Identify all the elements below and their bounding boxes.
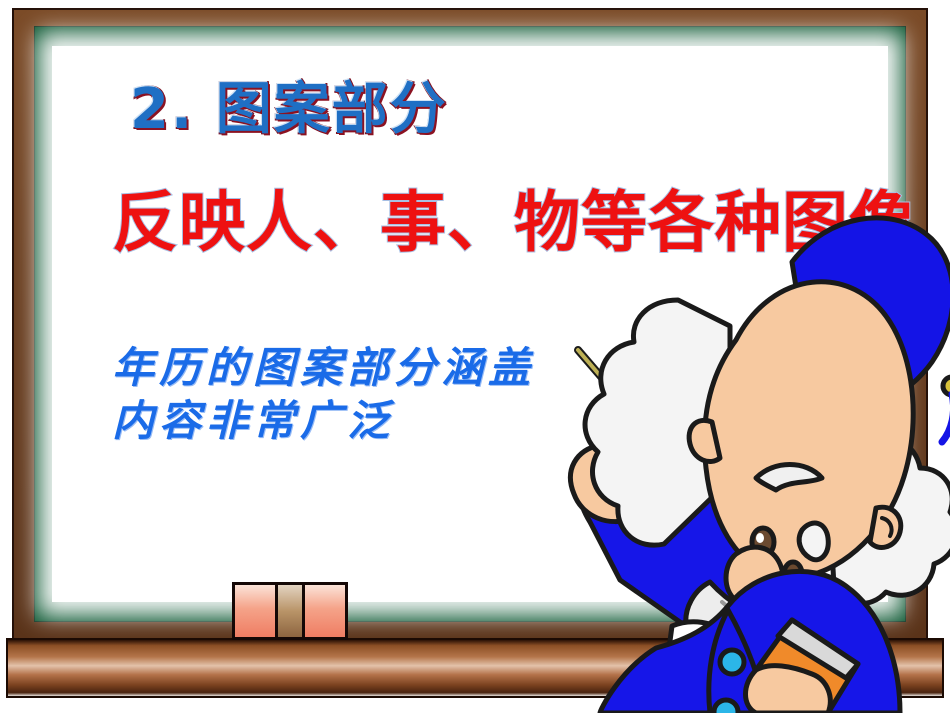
- body-text: 年历的图案部分涵盖 内容非常广泛: [112, 342, 535, 447]
- blackboard-eraser: [232, 582, 348, 640]
- page-title: 2. 图案部分: [130, 82, 448, 138]
- eraser-pad-right: [305, 585, 345, 637]
- cartoon-professor: [560, 150, 950, 713]
- eraser-pad-left: [235, 585, 275, 637]
- eraser-spine: [275, 585, 305, 637]
- slide-canvas: 2. 图案部分 反映人、事、物等各种图像 年历的图案部分涵盖 内容非常广泛: [0, 0, 950, 713]
